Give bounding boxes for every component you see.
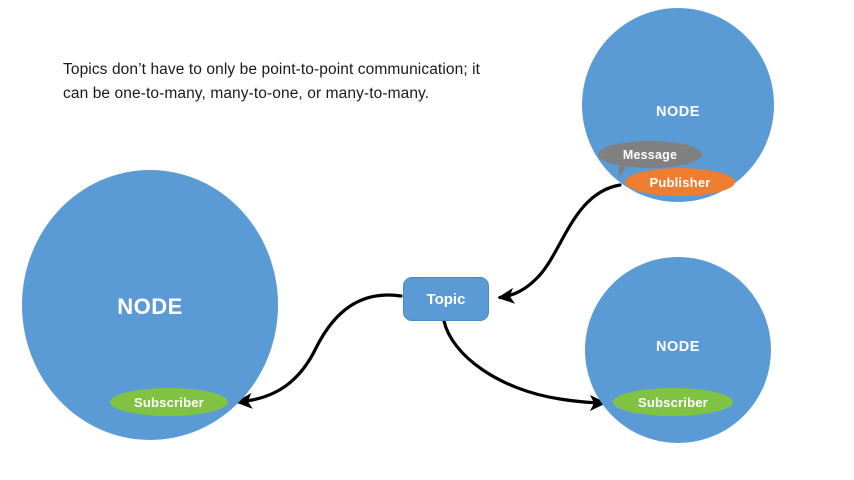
arrow-publisher-to-topic [500,185,620,298]
subscriber-bottom-right[interactable]: Subscriber [613,388,733,416]
topic-box[interactable]: Topic [403,277,489,321]
node-top-right-label: NODE [582,104,774,120]
arrow-topic-to-bottom-right-subscriber [444,321,604,403]
node-bottom-right-label: NODE [585,339,771,355]
message-bubble[interactable]: Message [598,141,702,168]
caption-text: Topics don’t have to only be point-to-po… [63,58,483,106]
subscriber-left[interactable]: Subscriber [110,388,228,416]
publisher[interactable]: Publisher [625,168,735,196]
diagram-canvas: Topics don’t have to only be point-to-po… [0,0,854,480]
node-left-label: NODE [22,294,278,320]
